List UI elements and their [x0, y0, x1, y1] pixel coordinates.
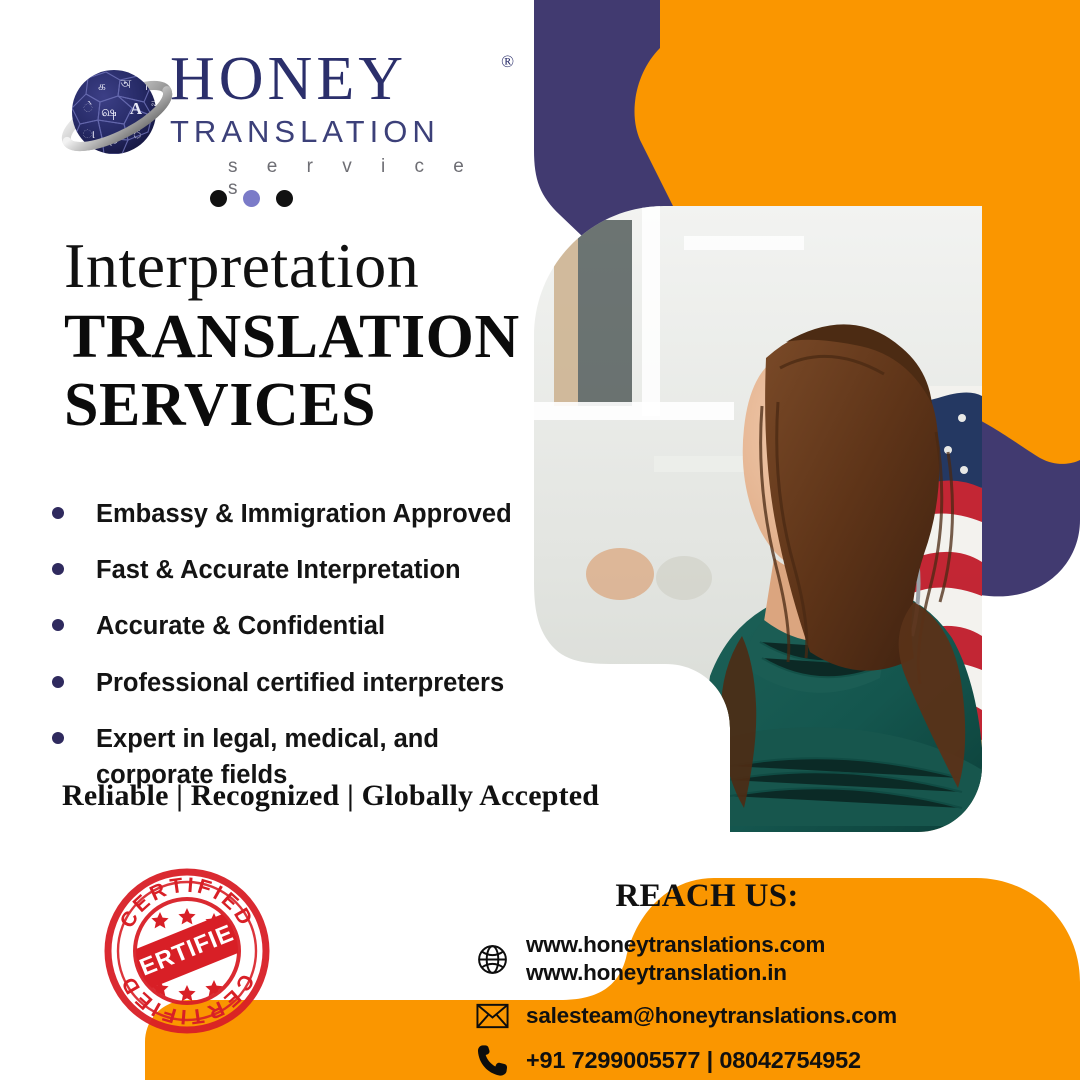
website-links: www.honeytranslations.com www.honeytrans… — [526, 931, 825, 988]
email-address: salesteam@honeytranslations.com — [526, 1002, 897, 1030]
registered-mark: ® — [501, 52, 514, 72]
brand-name-main: HONEY — [170, 48, 407, 110]
headline-bold-1: TRANSLATION — [64, 305, 534, 371]
contact-row-phone[interactable]: +91 7299005577 | 08042754952 — [470, 1044, 1070, 1077]
svg-text:ા: ા — [83, 127, 95, 141]
hero-photo — [534, 206, 982, 832]
website-2: www.honeytranslation.in — [526, 960, 787, 985]
feature-list: Embassy & Immigration Approved Fast & Ac… — [52, 496, 522, 813]
certified-stamp: CERTIFIED CERTIFIED CERTIFIED — [104, 868, 270, 1034]
headline-script: Interpretation — [64, 232, 534, 299]
brand-wordmark: HONEY® TRANSLATION s e r v i c e s — [170, 48, 490, 200]
website-1: www.honeytranslations.com — [526, 932, 825, 957]
decor-dot-1 — [210, 190, 227, 207]
list-item-label: Accurate & Confidential — [96, 608, 385, 644]
list-item-label: Embassy & Immigration Approved — [96, 496, 512, 532]
decor-dots — [210, 190, 293, 207]
headline-block: Interpretation TRANSLATION SERVICES — [64, 232, 534, 439]
bullet-dot-icon — [52, 619, 64, 631]
list-item-label: Fast & Accurate Interpretation — [96, 552, 461, 588]
contact-row-website[interactable]: www.honeytranslations.com www.honeytrans… — [470, 931, 1070, 988]
list-item-label: Professional certified interpreters — [96, 665, 504, 701]
reach-us-title: REACH US: — [512, 878, 902, 915]
bullet-dot-icon — [52, 507, 64, 519]
bullet-dot-icon — [52, 676, 64, 688]
contact-details: REACH US: www.honeytranslations.com www.… — [470, 878, 1070, 1077]
phone-icon — [470, 1044, 514, 1077]
svg-text:ஷ: ஷ — [101, 105, 117, 120]
tagline: Reliable | Recognized | Globally Accepte… — [62, 779, 599, 813]
list-item: Accurate & Confidential — [52, 608, 522, 644]
bullet-dot-icon — [52, 732, 64, 744]
contact-row-email[interactable]: salesteam@honeytranslations.com — [470, 1002, 1070, 1030]
globe-languages-icon: க অ । ે ஷ A ನ ા த ் — [58, 56, 176, 174]
list-item: Fast & Accurate Interpretation — [52, 552, 522, 588]
svg-text:ે: ે — [83, 101, 93, 115]
list-item: Professional certified interpreters — [52, 665, 522, 701]
svg-text:A: A — [130, 99, 143, 118]
poster-canvas: க অ । ે ஷ A ನ ા த ் HONEY® TRANSLATION s… — [0, 0, 1080, 1080]
bullet-dot-icon — [52, 563, 64, 575]
phone-number: +91 7299005577 | 08042754952 — [526, 1046, 861, 1076]
svg-text:অ: অ — [120, 77, 132, 91]
decor-dot-3 — [276, 190, 293, 207]
decor-dot-2 — [243, 190, 260, 207]
envelope-icon — [470, 1003, 514, 1029]
svg-text:க: க — [98, 79, 106, 93]
list-item: Embassy & Immigration Approved — [52, 496, 522, 532]
headline-bold-2: SERVICES — [64, 373, 534, 439]
brand-name-sub: TRANSLATION — [170, 114, 490, 150]
globe-icon — [470, 943, 514, 976]
